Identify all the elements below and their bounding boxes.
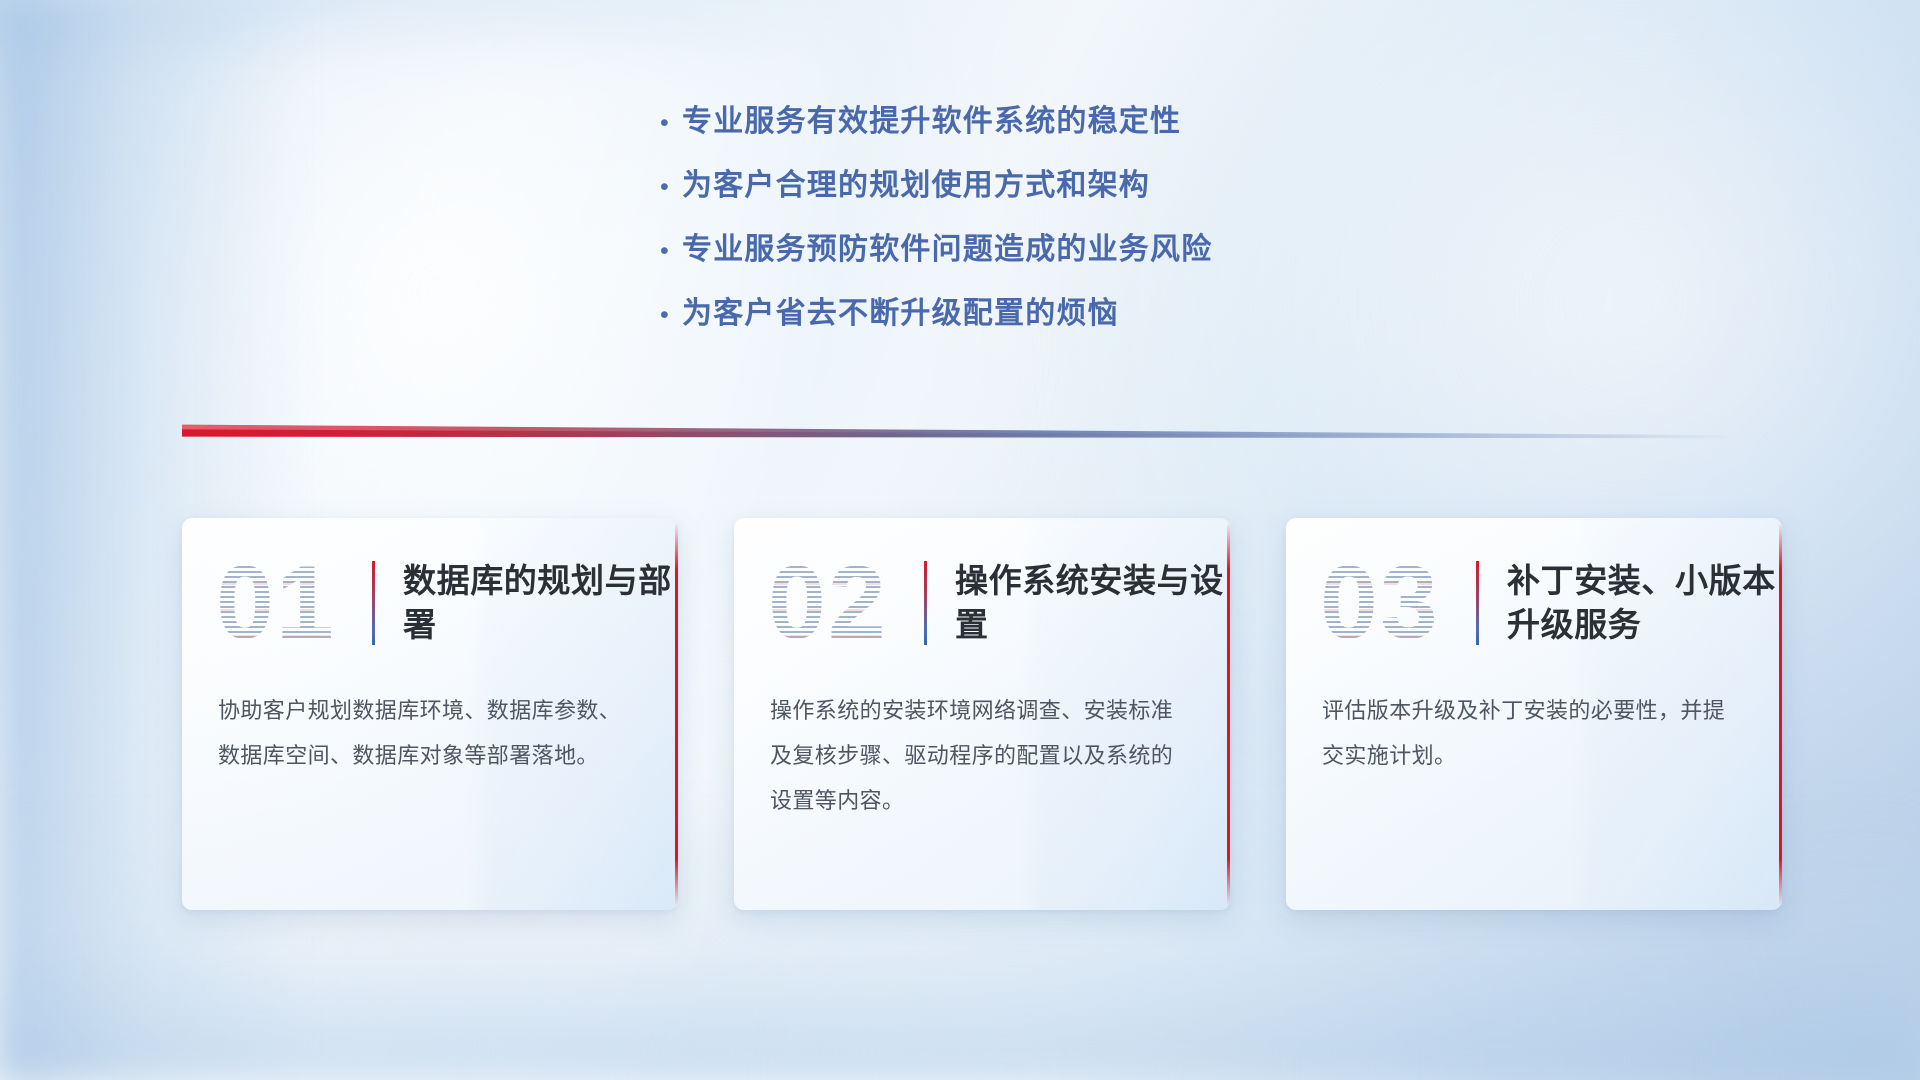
card-body-text: 操作系统的安装环境网络调查、安装标准及复核步骤、驱动程序的配置以及系统的设置等内… — [734, 688, 1230, 823]
bullet-item-text: 为客户合理的规划使用方式和架构 — [682, 168, 1150, 204]
bullet-item-text: 为客户省去不断升级配置的烦恼 — [682, 296, 1119, 332]
card-number-accent: 01 — [216, 543, 366, 663]
bullet-dot-icon: • — [660, 175, 682, 200]
service-card-03[interactable]: 0303 补丁安装、小版本升级服务 评估版本升级及补丁安装的必要性，并提交实施计… — [1286, 518, 1782, 910]
card-number-watermark: 0202 — [768, 543, 918, 663]
card-header: 0101 数据库的规划与部署 — [182, 518, 678, 688]
card-number-watermark: 0303 — [1320, 543, 1470, 663]
card-number-watermark: 0101 — [216, 543, 366, 663]
service-card-02[interactable]: 0202 操作系统安装与设置 操作系统的安装环境网络调查、安装标准及复核步骤、驱… — [734, 518, 1230, 910]
card-accent-rule — [1476, 561, 1479, 645]
bullet-item-1: • 专业服务有效提升软件系统的稳定性 — [660, 104, 1420, 168]
bullet-item-2: • 为客户合理的规划使用方式和架构 — [660, 168, 1420, 232]
bullet-item-text: 专业服务预防软件问题造成的业务风险 — [682, 232, 1212, 268]
slide-canvas: • 专业服务有效提升软件系统的稳定性 • 为客户合理的规划使用方式和架构 • 专… — [0, 0, 1920, 1080]
bullet-item-text: 专业服务有效提升软件系统的稳定性 — [682, 104, 1181, 140]
card-number-accent: 02 — [768, 543, 918, 663]
benefits-bullet-list: • 专业服务有效提升软件系统的稳定性 • 为客户合理的规划使用方式和架构 • 专… — [660, 104, 1420, 360]
card-title: 数据库的规划与部署 — [403, 559, 678, 647]
bullet-dot-icon: • — [660, 239, 682, 264]
bullet-dot-icon: • — [660, 303, 682, 328]
bullet-item-4: • 为客户省去不断升级配置的烦恼 — [660, 296, 1420, 360]
card-body-text: 协助客户规划数据库环境、数据库参数、数据库空间、数据库对象等部署落地。 — [182, 688, 678, 778]
card-accent-rule — [924, 561, 927, 645]
divider-wedge-shape — [182, 420, 1727, 446]
card-body-text: 评估版本升级及补丁安装的必要性，并提交实施计划。 — [1286, 688, 1782, 778]
section-divider — [182, 420, 1727, 446]
bullet-dot-icon: • — [660, 111, 682, 136]
card-title: 补丁安装、小版本升级服务 — [1507, 559, 1782, 647]
card-number-accent: 03 — [1320, 543, 1470, 663]
card-header: 0202 操作系统安装与设置 — [734, 518, 1230, 688]
card-title: 操作系统安装与设置 — [955, 559, 1230, 647]
card-accent-rule — [372, 561, 375, 645]
service-card-01[interactable]: 0101 数据库的规划与部署 协助客户规划数据库环境、数据库参数、数据库空间、数… — [182, 518, 678, 910]
service-card-list: 0101 数据库的规划与部署 协助客户规划数据库环境、数据库参数、数据库空间、数… — [182, 518, 1782, 910]
bullet-item-3: • 专业服务预防软件问题造成的业务风险 — [660, 232, 1420, 296]
card-header: 0303 补丁安装、小版本升级服务 — [1286, 518, 1782, 688]
